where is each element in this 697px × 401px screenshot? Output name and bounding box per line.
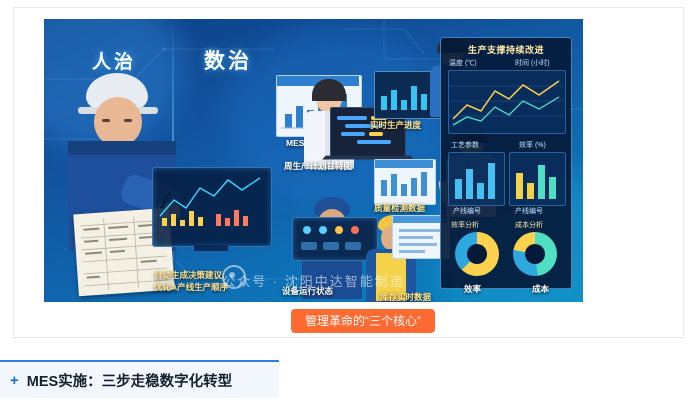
label-equipment-status: 设备运行状态	[282, 285, 333, 297]
label-line-no-1: 产线编号	[453, 206, 481, 216]
label-weekly-gantt: 周生产计划甘特图	[284, 160, 352, 172]
page-root: 人治 数治	[0, 0, 697, 401]
label-quality-data: 质量检测数据	[374, 202, 425, 214]
plus-icon[interactable]: +	[10, 373, 19, 388]
label-realtime-progress: 实时生产进度	[370, 119, 421, 131]
label-donut-left: 效率	[464, 283, 481, 295]
accordion-section-header[interactable]: + MES实施：三步走稳数字化转型	[0, 360, 279, 398]
label-efficiency-analysis: 效率分析	[451, 220, 479, 230]
watermark-logo-icon	[222, 265, 246, 289]
content-card: 人治 数治	[13, 7, 684, 338]
donut-cost	[513, 232, 557, 276]
label-auto-decision-line1: 自动生成决策建议:	[154, 269, 225, 281]
monitor-quality	[374, 159, 436, 205]
headline-right: 数治	[204, 45, 252, 75]
donut-efficiency	[455, 232, 499, 276]
chart-temperature-curve	[448, 70, 566, 134]
label-process-param: 工艺参数	[451, 140, 479, 150]
label-efficiency-pct: 效率 (%)	[519, 140, 546, 150]
label-donut-right: 成本	[532, 283, 549, 295]
board-production-support: 生产支撑持续改进 温度 (℃) 时间 (小时) 工艺参数 效率 (%)	[440, 37, 572, 289]
illustration-image: 人治 数治	[44, 19, 583, 302]
headline-left: 人治	[92, 47, 136, 74]
label-inventory-data: 库存实时数据	[380, 291, 431, 302]
accordion-title: MES实施：三步走稳数字化转型	[27, 370, 232, 391]
label-time-hours: 时间 (小时)	[515, 58, 550, 68]
chart-process-bars	[448, 152, 505, 206]
monitor-decision-stand	[194, 245, 228, 251]
label-production-support: 生产支撑持续改进	[441, 43, 571, 56]
label-auto-decision-line2: 优化A产线生产顺序	[154, 281, 228, 293]
label-cost-analysis: 成本分析	[515, 220, 543, 230]
monitor-decision	[152, 167, 272, 247]
label-line-no-2: 产线编号	[515, 206, 543, 216]
chart-efficiency-bars	[509, 152, 566, 206]
label-temperature: 温度 (℃)	[449, 58, 477, 68]
image-caption: 管理革命的“三个核心”	[291, 309, 435, 333]
